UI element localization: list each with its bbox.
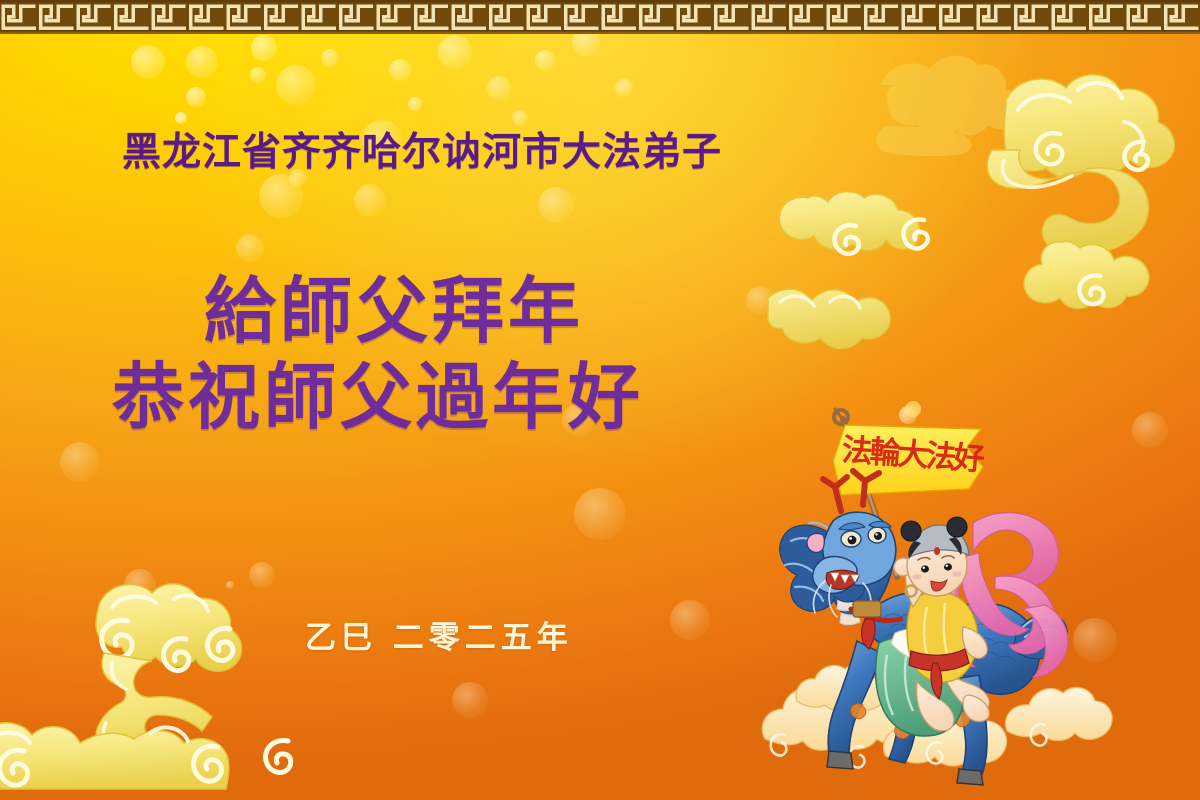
auspicious-cloud-bottom-left [0, 555, 320, 800]
bokeh-dot [250, 67, 266, 83]
cloud-shape-tail [768, 289, 890, 348]
date-stamp: 乙巳 二零二五年 [305, 612, 573, 657]
bokeh-dot [186, 87, 206, 107]
dragon-body [826, 529, 1067, 785]
bokeh-dot [236, 234, 264, 262]
ribbon-streamers [934, 513, 1068, 677]
bokeh-dot [124, 569, 156, 601]
banner-pole [834, 409, 897, 577]
cloud-shape-main [1004, 75, 1174, 177]
cloud-shape-stem [96, 653, 212, 764]
greeting-line-2: 恭祝師父過年好 [112, 354, 644, 440]
bokeh-dot [899, 406, 917, 424]
dragon-head [807, 471, 896, 617]
greeting-line-1: 給師父拜年 [112, 268, 644, 354]
bokeh-dot [535, 50, 555, 70]
cloud-shape-bottom-right [1024, 241, 1149, 308]
cloud-base [762, 665, 1112, 768]
bokeh-dot [321, 49, 339, 67]
bokeh-dot [512, 110, 528, 126]
bokeh-dot [408, 97, 422, 111]
bokeh-dot [259, 174, 303, 218]
dragon-mane [780, 523, 865, 612]
sun-dot [905, 401, 921, 417]
cloud-shape-ribbon [987, 150, 1148, 255]
bokeh-dot [389, 59, 411, 81]
bokeh-dot [1132, 412, 1168, 448]
dragon-saddle [876, 629, 963, 736]
bokeh-dot [934, 726, 966, 758]
bokeh-dot [746, 286, 774, 314]
child-riding-dragon-illustration: 法輪大法好 [745, 395, 1145, 795]
bokeh-dot [1073, 618, 1117, 662]
bokeh-dot [226, 581, 234, 589]
auspicious-cloud-top-right [760, 30, 1200, 360]
bokeh-dot [276, 65, 316, 105]
cloud-shape-left [779, 192, 927, 254]
dragon-harness [851, 601, 901, 649]
bokeh-dot [186, 46, 218, 78]
bokeh-dot [487, 76, 511, 100]
bokeh-dot [251, 35, 277, 61]
greeting-message: 給師父拜年 恭祝師父過年好 [112, 268, 644, 440]
bokeh-dot [354, 184, 386, 216]
cloud-shape-ghost [876, 56, 1024, 157]
bokeh-dot [574, 488, 626, 540]
bokeh-dot [452, 682, 488, 718]
banner-text: 法輪大法好 [841, 432, 986, 478]
bokeh-dot [60, 442, 100, 482]
bokeh-dot [615, 79, 633, 97]
new-year-greeting-card: 法輪大法好 [0, 0, 1200, 800]
bokeh-dot [175, 112, 187, 124]
bokeh-dot [249, 562, 275, 588]
cloud-shape-bottom-band [0, 723, 291, 789]
banner-flag: 法輪大法好 [833, 425, 986, 495]
page-title: 黑龙江省齐齐哈尔讷河市大法弟子 [122, 133, 722, 172]
bokeh-dot [438, 35, 472, 69]
child-figure [894, 517, 989, 731]
bokeh-dot [131, 45, 165, 79]
cloud-shape-upper [96, 584, 242, 671]
bokeh-dot [538, 187, 574, 223]
greek-key-border [0, 0, 1200, 34]
bokeh-dot [670, 600, 710, 640]
